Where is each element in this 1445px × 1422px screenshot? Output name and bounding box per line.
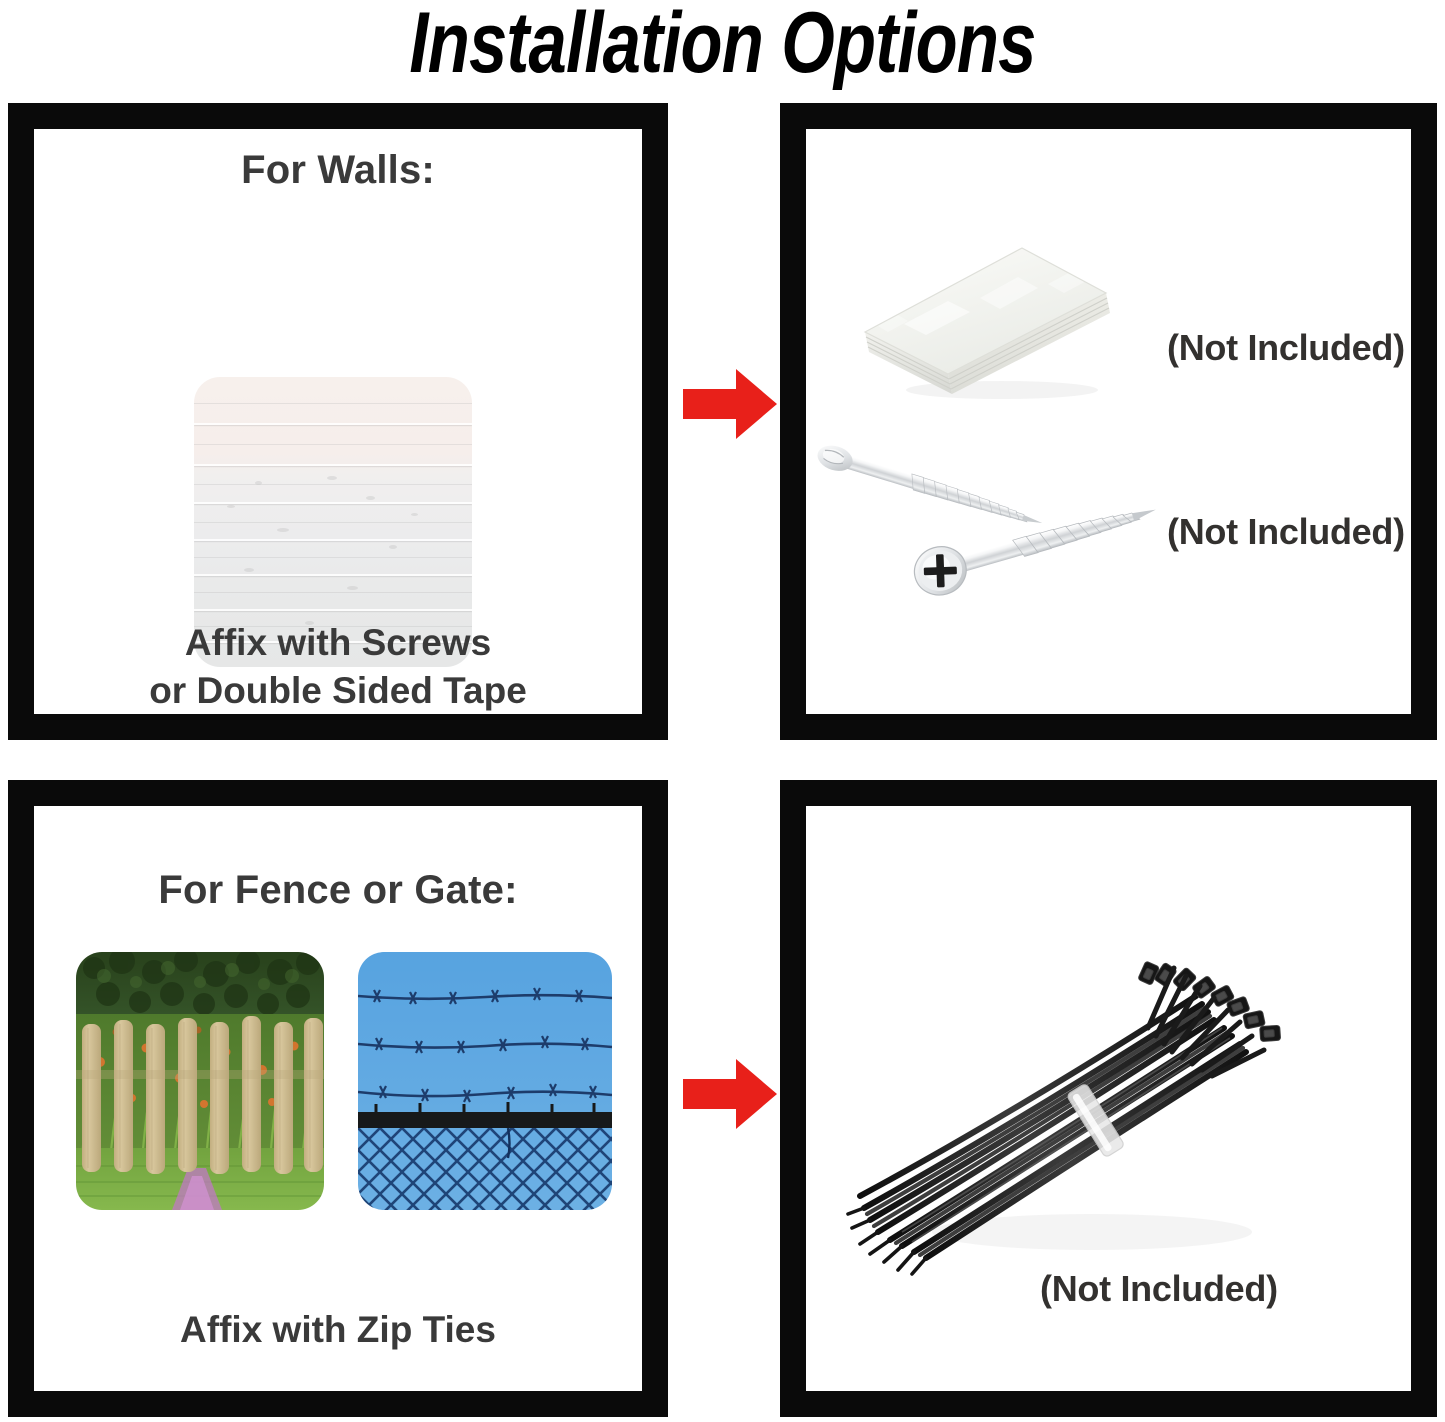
for-walls-caption-line2: or Double Sided Tape [34,667,642,714]
panel-wall-hardware [780,103,1437,740]
chain-link-barbed-wire-fence-photo [358,952,612,1210]
double-sided-tape-stack-image [852,222,1120,402]
silver-screws-image [812,438,1172,618]
for-fence-heading: For Fence or Gate: [34,868,642,913]
for-fence-caption: Affix with Zip Ties [34,1306,642,1354]
tape-not-included-label: (Not Included) [1167,327,1405,369]
zip-ties-not-included-label: (Not Included) [1040,1268,1278,1310]
for-walls-heading: For Walls: [34,148,642,193]
panel-for-walls: For Walls: Affix [8,103,668,740]
wooden-picket-fence-photo [76,952,324,1210]
red-right-arrow-fence [681,1056,779,1132]
red-right-arrow-walls [681,366,779,442]
for-walls-caption-line1: Affix with Screws [34,619,642,667]
panel-for-walls-content: For Walls: Affix [34,129,642,714]
panel-wall-hardware-content [806,129,1411,714]
page-title: Installation Options [145,0,1301,96]
screws-not-included-label: (Not Included) [1167,511,1405,553]
black-zip-ties-bundle-image [842,902,1322,1282]
